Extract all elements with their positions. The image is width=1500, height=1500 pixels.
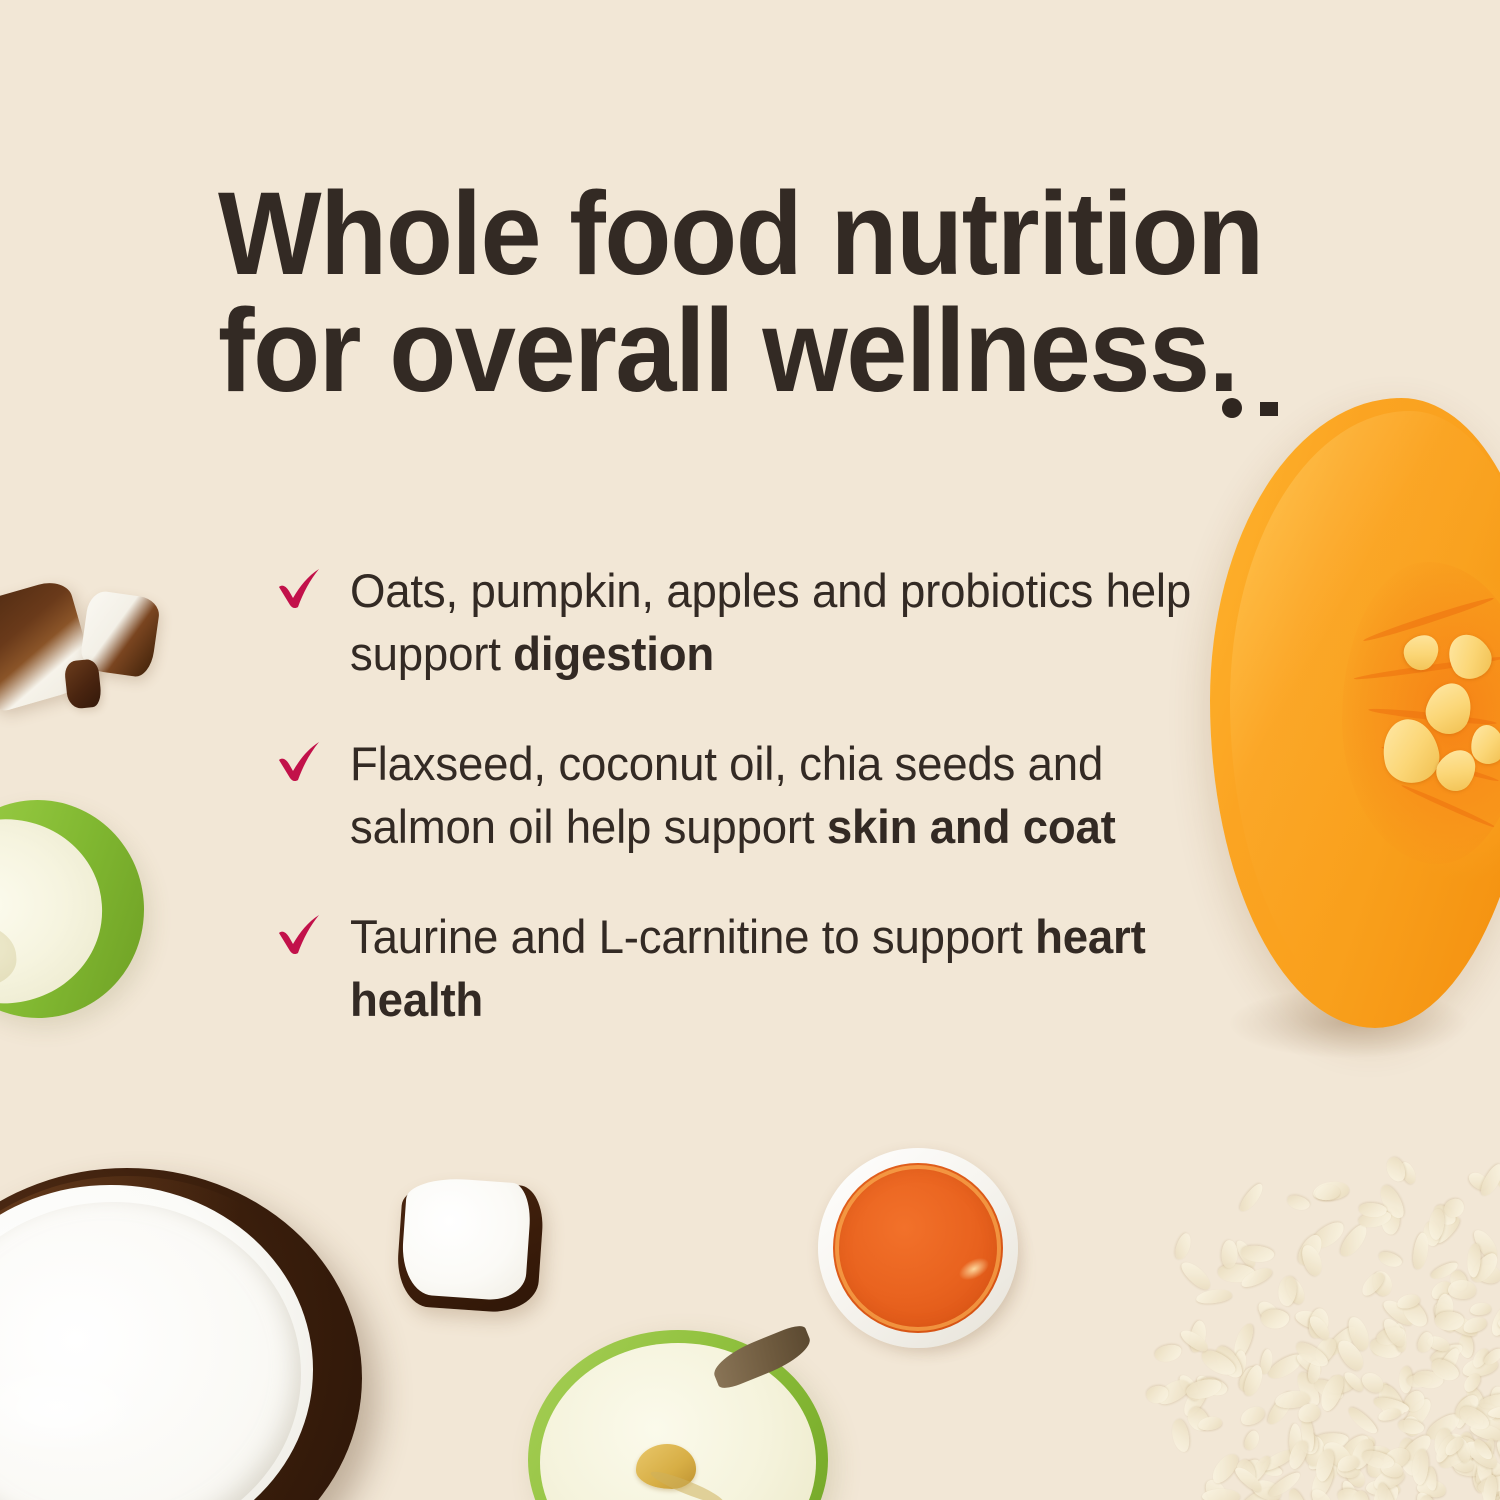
- oat-flake: [1469, 1302, 1491, 1317]
- benefit-emphasis: skin and coat: [827, 800, 1116, 853]
- oat-flake: [1345, 1404, 1380, 1437]
- check-icon: [276, 914, 322, 956]
- oat-flake: [1411, 1232, 1430, 1271]
- oat-flake: [1383, 1155, 1408, 1185]
- oat-flake: [1415, 1330, 1436, 1355]
- oat-flake: [1243, 1429, 1262, 1452]
- check-icon: [276, 741, 322, 783]
- oat-flake: [1286, 1487, 1312, 1500]
- oat-flake: [1261, 1310, 1289, 1329]
- oat-flake: [1238, 1403, 1267, 1428]
- oat-flake: [1178, 1258, 1215, 1293]
- benefit-text: Flaxseed, coconut oil, chia seeds and sa…: [350, 733, 1209, 858]
- promo-image: Whole food nutrition for overall wellnes…: [0, 0, 1500, 1500]
- benefit-emphasis: digestion: [513, 627, 714, 680]
- oat-flake: [1173, 1231, 1193, 1260]
- benefit-emphasis: heart health: [350, 910, 1146, 1026]
- oil-rim: [835, 1165, 1001, 1331]
- page-title: Whole food nutrition for overall wellnes…: [218, 176, 1269, 410]
- coconut-chunk-image: [391, 1171, 548, 1321]
- salmon-oil-bowl-image: [818, 1148, 1018, 1348]
- benefit-item: Taurine and L-carnitine to support heart…: [276, 906, 1236, 1031]
- apple-half-image: [528, 1330, 828, 1500]
- check-icon: [276, 568, 322, 610]
- coconut-chunk-image: [64, 658, 103, 709]
- oat-flake: [1447, 1280, 1475, 1299]
- apple-slice-image: [0, 793, 151, 1025]
- coconut-chunk-meat: [400, 1176, 532, 1302]
- oat-flake: [1169, 1418, 1191, 1454]
- benefit-text: Taurine and L-carnitine to support heart…: [350, 906, 1209, 1031]
- rolled-oats-image: [1110, 1130, 1500, 1500]
- benefits-list: Oats, pumpkin, apples and probiotics hel…: [276, 560, 1236, 1031]
- oat-flake: [1202, 1489, 1240, 1500]
- pumpkin-half-image: [1210, 398, 1500, 1028]
- oat-flake: [1237, 1181, 1266, 1215]
- benefit-item: Flaxseed, coconut oil, chia seeds and sa…: [276, 733, 1236, 858]
- oat-flake: [1153, 1342, 1183, 1364]
- oat-flake: [1196, 1288, 1234, 1306]
- oat-flake: [1286, 1193, 1312, 1212]
- coconut-chunk-body: [64, 658, 103, 709]
- benefit-text: Oats, pumpkin, apples and probiotics hel…: [350, 560, 1209, 685]
- coconut-half-image: [0, 1168, 362, 1500]
- benefit-item: Oats, pumpkin, apples and probiotics hel…: [276, 560, 1236, 685]
- oat-flake: [1377, 1249, 1404, 1269]
